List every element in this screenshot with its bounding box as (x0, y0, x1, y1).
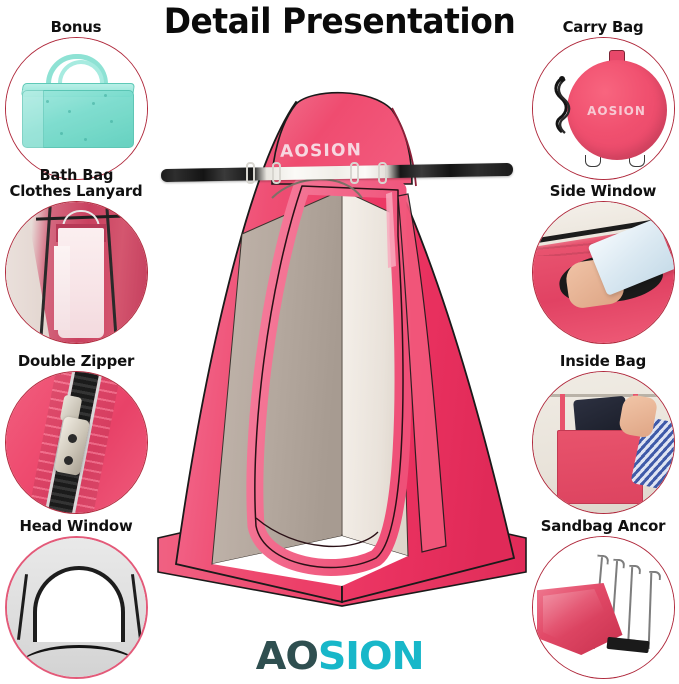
panel-label-double-zipper: Double Zipper (3, 352, 149, 370)
panel-circle-frame (5, 201, 148, 344)
panel-image-carry-bag: AOSION (532, 37, 675, 180)
brand-logo: AOSION (0, 634, 679, 678)
detail-presentation-page: Detail Presentation Bonus (0, 0, 679, 684)
zipper-pull-hole (68, 434, 77, 443)
panel-label-clothes-lanyard: Clothes Lanyard (3, 182, 149, 200)
panel-circle-frame (532, 371, 675, 514)
tent-seam-right (130, 574, 141, 640)
panel-image-bonus-bath-bag: Bath Bag (5, 37, 148, 180)
brand-logo-sion: SION (318, 634, 424, 678)
panel-image-double-zipper (5, 371, 148, 514)
brand-logo-ao: AO (256, 634, 318, 678)
bath-bag-dot (110, 120, 113, 123)
feature-panel-bonus-bath-bag: Bonus Bath Bag (0, 18, 152, 180)
side-window-illustration (533, 202, 674, 343)
feature-panel-double-zipper: Double Zipper (0, 352, 152, 514)
panel-label-inside-bag: Inside Bag (530, 352, 676, 370)
brand-logo-text: AOSION (256, 634, 424, 678)
ground-stake-hook (648, 571, 660, 580)
double-zipper-illustration (6, 372, 147, 513)
tent-pole (104, 201, 117, 344)
bungee-cord-icon (551, 76, 573, 134)
feature-panel-inside-bag: Inside Bag (527, 352, 679, 514)
rod-ring (246, 162, 255, 184)
panel-circle-frame (532, 201, 675, 344)
tent-seam-left (16, 574, 27, 640)
panel-label-sandbag-anchor: Sandbag Ancor (530, 517, 676, 535)
panel-label-bonus: Bonus (3, 18, 149, 36)
ground-stake-hook (596, 554, 609, 564)
carry-bag-brand-text: AOSION (567, 104, 667, 118)
bath-bag-side-panel (22, 90, 44, 148)
clothes-lanyard-illustration (6, 202, 147, 343)
inside-bag-illustration (533, 372, 674, 513)
bath-bag-dot (46, 100, 49, 103)
zipper-pull-hole (64, 456, 73, 465)
feature-panel-carry-bag: Carry Bag AOSION (527, 18, 679, 180)
panel-circle-frame (5, 37, 148, 180)
rod-ring (350, 162, 359, 184)
product-image-tent: AOSION (146, 66, 538, 626)
bath-bag-illustration (6, 38, 147, 179)
ground-stake-hook (628, 565, 640, 575)
carry-bag-strap-left (585, 155, 601, 167)
panel-image-side-window (532, 201, 675, 344)
panel-label-carry-bag: Carry Bag (530, 18, 676, 36)
ground-stake-hook (612, 559, 625, 569)
bath-bag-dot (104, 94, 107, 97)
bath-bag-dot (92, 102, 95, 105)
carry-bag-body: AOSION (567, 60, 667, 160)
panel-image-inside-bag (532, 371, 675, 514)
bath-bag-dot (84, 138, 87, 141)
feature-panel-clothes-lanyard: Clothes Lanyard (0, 182, 152, 344)
rod-ring (378, 162, 387, 184)
panel-circle-frame (5, 371, 148, 514)
hanging-towel-fold (54, 246, 70, 330)
tent-brand-text: AOSION (280, 140, 362, 161)
panel-image-clothes-lanyard (5, 201, 148, 344)
pocket-strap-left (560, 394, 565, 434)
inside-storage-pocket (557, 430, 643, 504)
panel-label-head-window: Head Window (3, 517, 149, 535)
head-window-arch-frame (33, 566, 125, 644)
rod-ring (272, 162, 281, 184)
panel-circle-frame: AOSION (532, 37, 675, 180)
panel-label-side-window: Side Window (530, 182, 676, 200)
panel-sublabel-bath-bag: Bath Bag (7, 166, 144, 184)
carry-bag-illustration: AOSION (533, 38, 674, 179)
bath-bag-dot (68, 110, 71, 113)
bath-bag-dot (60, 132, 63, 135)
feature-panel-side-window: Side Window (527, 182, 679, 344)
